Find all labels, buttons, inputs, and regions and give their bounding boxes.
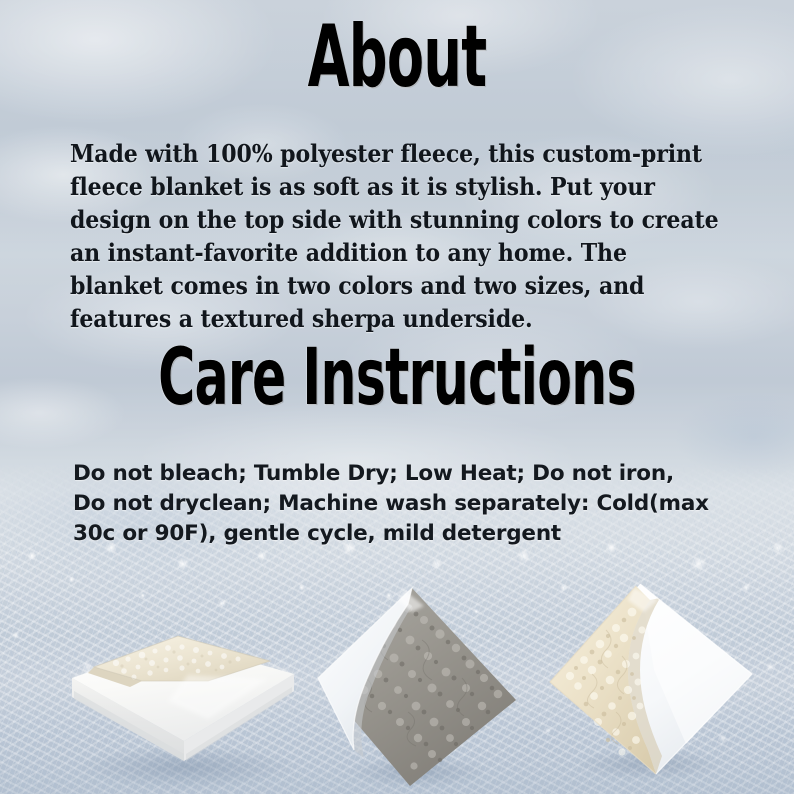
about-body-text: Made with 100% polyester fleece, this cu… — [70, 137, 726, 335]
product-photo-folded-blanket — [58, 615, 308, 790]
grey-swatch-illustration — [312, 582, 522, 794]
care-instructions-body-text: Do not bleach; Tumble Dry; Low Heat; Do … — [73, 459, 713, 549]
product-info-poster: About Made with 100% polyester fleece, t… — [0, 0, 794, 794]
about-heading: About — [119, 14, 675, 100]
care-instructions-heading: Care Instructions — [111, 339, 683, 417]
product-photo-row — [0, 560, 794, 794]
cream-swatch-illustration — [536, 578, 758, 786]
folded-blanket-illustration — [58, 615, 308, 790]
product-photo-cream-sherpa-swatch — [536, 578, 758, 786]
product-photo-grey-sherpa-swatch — [312, 582, 522, 794]
